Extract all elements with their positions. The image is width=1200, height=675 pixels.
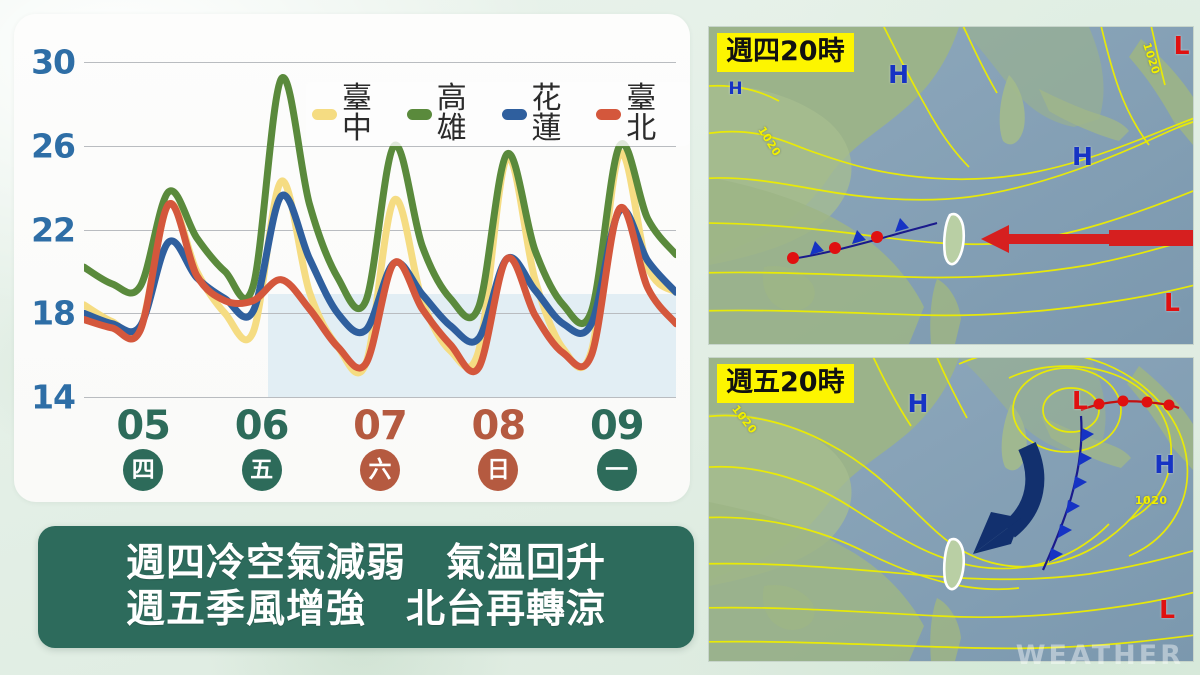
headline-line-2: 週五季風增強 北台再轉涼	[126, 588, 606, 632]
high-pressure-marker: H	[907, 391, 928, 416]
map-time-label-friday: 週五20時	[717, 364, 854, 403]
legend-label: 臺北	[626, 84, 684, 144]
synoptic-chart-thursday	[709, 27, 1193, 344]
chart-legend: 臺中高雄花蓮臺北	[306, 82, 690, 146]
legend-item[interactable]: 臺北	[596, 84, 684, 144]
weekday-badge: 日	[478, 449, 518, 491]
headline-line-1: 週四冷空氣減弱 氣溫回升	[126, 542, 606, 586]
legend-swatch	[596, 109, 621, 120]
weekday-badge: 五	[242, 449, 282, 491]
low-pressure-marker: L	[1072, 388, 1088, 413]
weekday-badge: 一	[597, 449, 637, 491]
temperature-chart-panel: 1418222630 臺中高雄花蓮臺北 05四06五07六08日09一	[14, 14, 690, 502]
low-pressure-marker: L	[1174, 33, 1190, 58]
legend-item[interactable]: 花蓮	[502, 84, 590, 144]
y-axis-tick-label: 14	[31, 378, 75, 417]
date-column[interactable]: 08日	[450, 406, 546, 491]
legend-label: 花蓮	[532, 84, 590, 144]
high-pressure-marker: H	[728, 81, 742, 98]
y-axis-tick-label: 22	[31, 210, 75, 249]
date-column[interactable]: 09一	[569, 406, 665, 491]
high-pressure-marker: H	[1072, 144, 1093, 169]
x-axis-dates: 05四06五07六08日09一	[84, 406, 676, 502]
high-pressure-marker: H	[888, 62, 909, 87]
synoptic-chart-friday	[709, 358, 1193, 661]
date-number: 05	[116, 406, 170, 446]
weekday-badge: 四	[123, 449, 163, 491]
high-pressure-marker: H	[1154, 452, 1175, 477]
legend-swatch	[407, 109, 432, 120]
date-column[interactable]: 05四	[95, 406, 191, 491]
gridline	[84, 397, 676, 398]
map-time-label-thursday: 週四20時	[717, 33, 854, 72]
legend-swatch	[312, 109, 337, 120]
y-axis-tick-label: 26	[31, 126, 75, 165]
isobar-label: 1020	[1135, 494, 1168, 507]
legend-label: 臺中	[342, 84, 400, 144]
weather-map-friday[interactable]: 週五20時 H H L L 1020 1020	[708, 357, 1194, 662]
date-column[interactable]: 07六	[332, 406, 428, 491]
y-axis-tick-label: 18	[31, 294, 75, 333]
date-column[interactable]: 06五	[214, 406, 310, 491]
headline-banner: 週四冷空氣減弱 氣溫回升 週五季風增強 北台再轉涼	[38, 526, 694, 648]
date-number: 07	[353, 406, 407, 446]
series-line	[84, 153, 676, 373]
legend-item[interactable]: 臺中	[312, 84, 400, 144]
weekday-badge: 六	[360, 449, 400, 491]
weather-map-thursday[interactable]: 週四20時 H H H L L 1020 1020	[708, 26, 1194, 345]
date-number: 08	[472, 406, 526, 446]
low-pressure-marker: L	[1164, 290, 1180, 315]
low-pressure-marker: L	[1159, 597, 1175, 622]
date-number: 09	[590, 406, 644, 446]
legend-swatch	[502, 109, 527, 120]
date-number: 06	[235, 406, 289, 446]
legend-label: 高雄	[437, 84, 495, 144]
legend-item[interactable]: 高雄	[407, 84, 495, 144]
y-axis-tick-label: 30	[31, 43, 75, 82]
